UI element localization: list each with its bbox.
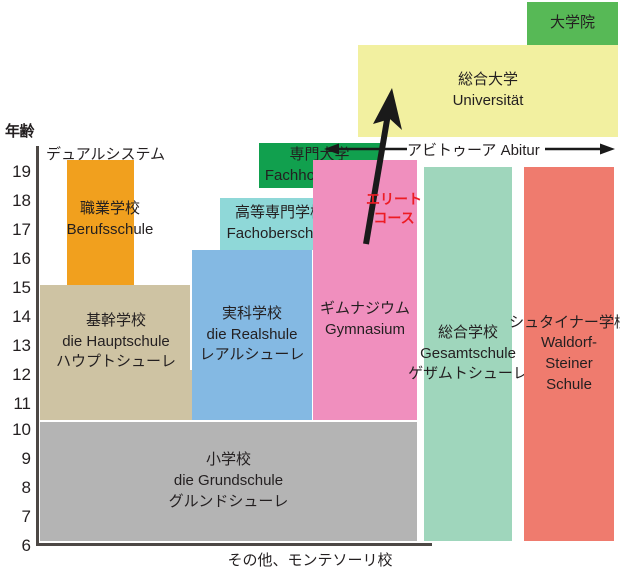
box-graduate-school: 大学院 [527,2,618,45]
gymnasium-labels: ギムナジウム Gymnasium [306,290,424,350]
hauptschule-labels: 基幹学校 die Hauptschule ハウプトシューレ [40,297,192,387]
box-gesamtschule: 総合学校 Gesamtschule ゲザムトシューレ [424,167,512,541]
fachoberschule-label-ja: 高等専門学校 [235,203,325,224]
axis-tick-19: 19 [0,163,31,181]
grundschule-label-ja: 小学校 [206,450,251,471]
gymnasium-label-ja: ギムナジウム [320,299,410,320]
axis-vertical-line [36,146,39,546]
axis-tick-11: 11 [0,395,31,413]
berufsschule-label-de: Berufsschule [67,220,154,241]
education-system-diagram: 年齢 19 18 17 16 15 14 13 12 11 10 9 8 7 6… [0,0,620,569]
abitur-right-arrow-icon [545,140,617,158]
elite-course-line-2: コース [365,209,423,228]
berufsschule-label-ja: 職業学校 [80,199,140,220]
university-label-ja: 総合大学 [458,70,518,91]
axis-tick-9: 9 [0,450,31,468]
realschule-label-de: die Realshule [207,325,298,346]
realschule-label-kana: レアルシューレ [200,345,305,366]
elite-course-line-1: エリート [365,190,423,209]
waldorf-label-de3: Schule [546,375,592,396]
dual-system-label: デュアルシステム [46,143,165,164]
hauptschule-label-ja: 基幹学校 [86,311,146,332]
axis-tick-17: 17 [0,221,31,239]
abitur-label: アビトゥーア Abitur [407,139,540,160]
axis-tick-15: 15 [0,279,31,297]
realschule-label-ja: 実科学校 [222,304,282,325]
abitur-left-arrow-icon [322,140,407,158]
grundschule-label-de: die Grundschule [174,471,283,492]
axis-title: 年齢 [0,120,34,141]
university-label-de: Universität [453,91,524,112]
axis-tick-18: 18 [0,192,31,210]
hauptschule-label-kana: ハウプトシューレ [56,352,176,373]
hauptschule-label-de: die Hauptschule [62,332,170,353]
berufsschule-labels: 職業学校 Berufsschule [55,190,165,250]
axis-tick-10: 10 [0,421,31,439]
grundschule-label-kana: グルンドシューレ [169,492,289,513]
gesamtschule-label-ja: 総合学校 [438,323,498,344]
axis-tick-14: 14 [0,308,31,326]
footnote-label: その他、モンテソーリ校 [0,549,620,569]
elite-course-label: エリート コース [365,190,423,228]
waldorf-label-ja: シュタイナー学校 [509,313,620,334]
gymnasium-label-de: Gymnasium [325,320,405,341]
axis-tick-7: 7 [0,508,31,526]
waldorf-label-de2: Steiner [545,354,593,375]
axis-tick-8: 8 [0,479,31,497]
axis-horizontal-line [36,543,432,546]
box-waldorf-steiner-schule: シュタイナー学校 Waldorf- Steiner Schule [524,167,614,541]
gesamtschule-label-kana: ゲザムトシューレ [408,364,528,385]
gesamtschule-label-de: Gesamtschule [420,344,516,365]
axis-tick-16: 16 [0,250,31,268]
box-realschule: 実科学校 die Realshule レアルシューレ [192,250,312,420]
waldorf-label-de1: Waldorf- [541,333,597,354]
axis-tick-13: 13 [0,337,31,355]
graduate-label-ja: 大学院 [550,13,595,34]
axis-tick-12: 12 [0,366,31,384]
box-grundschule: 小学校 die Grundschule グルンドシューレ [40,422,417,541]
